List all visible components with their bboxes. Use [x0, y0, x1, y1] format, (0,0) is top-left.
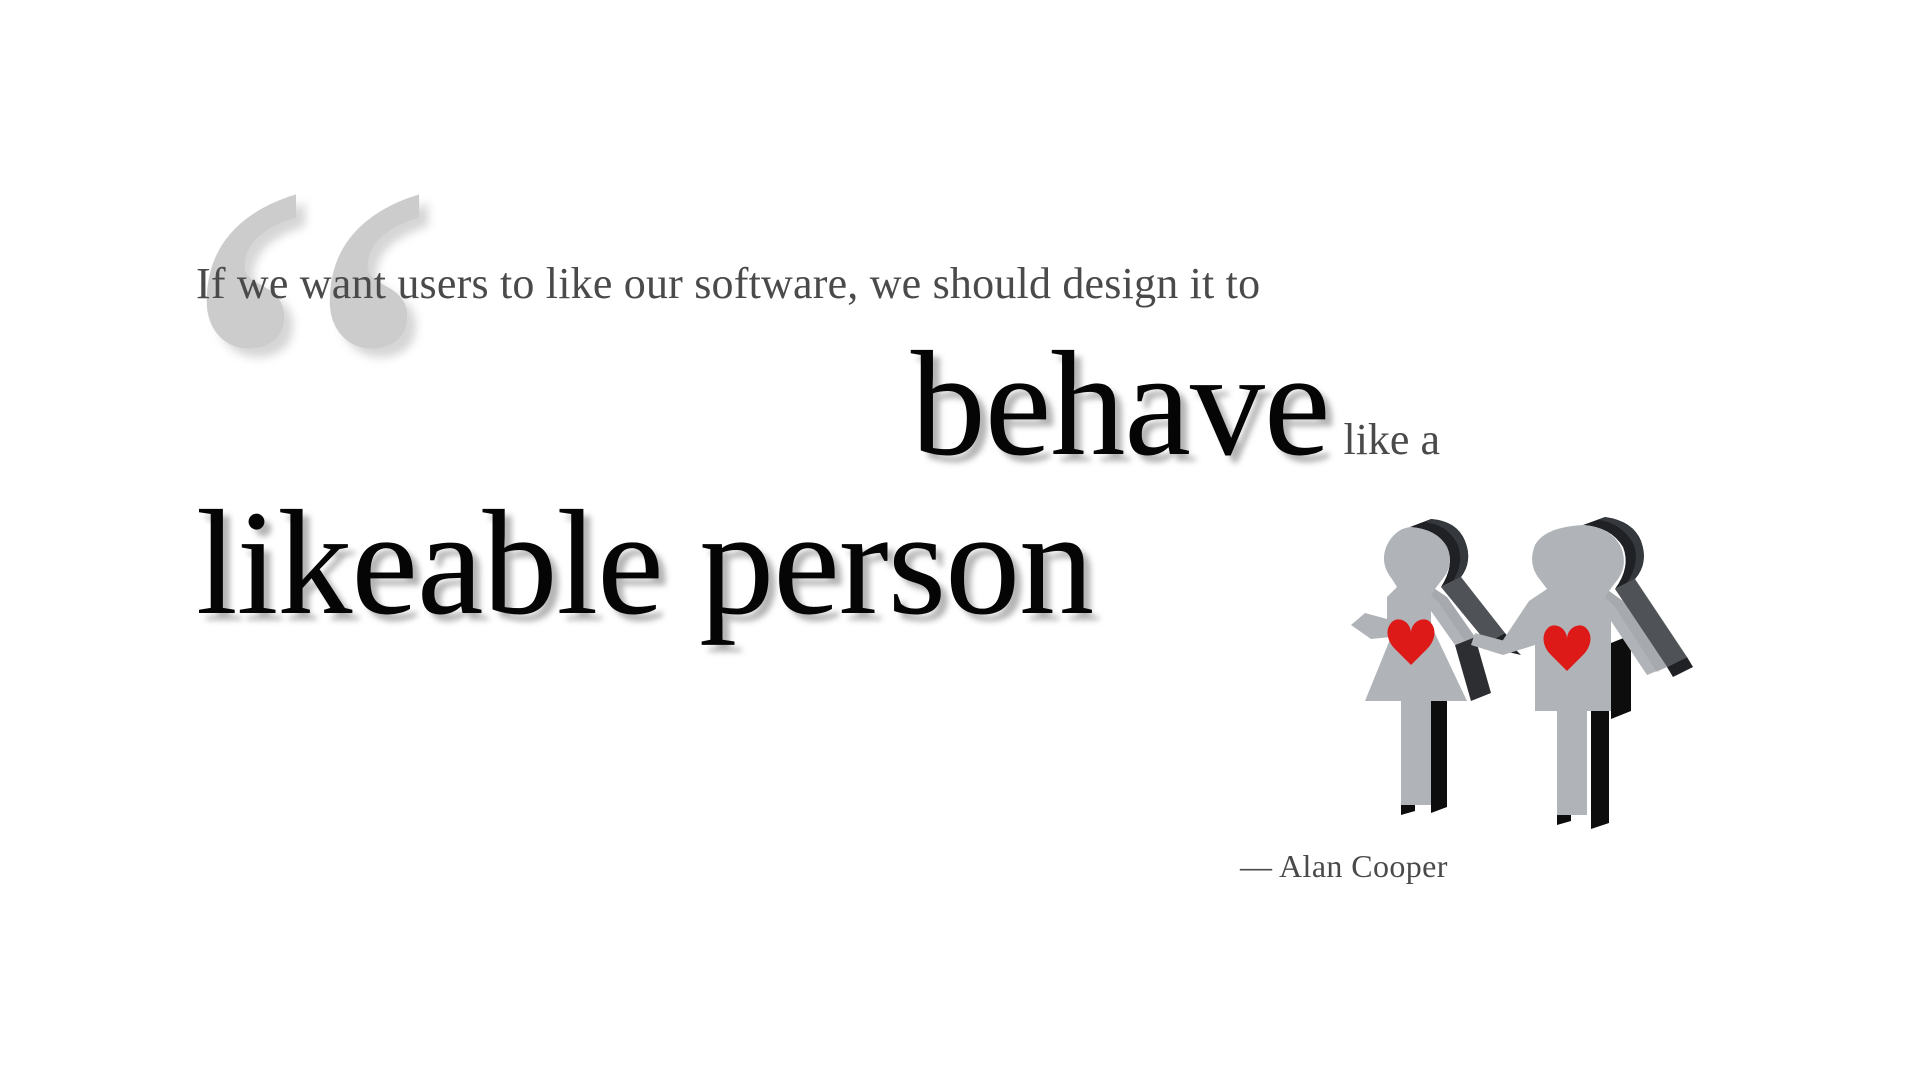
quote-attribution: — Alan Cooper	[1240, 848, 1448, 885]
male-figure	[1501, 517, 1693, 829]
quote-line-3: likeable person	[196, 477, 1093, 649]
male-torso-depth	[1611, 635, 1631, 719]
quote-emphasis-behave: behave	[911, 321, 1330, 487]
quote-slide: “ If we want users to like our software,…	[0, 0, 1920, 1080]
quote-line-2-tail: like a	[1343, 415, 1440, 464]
quote-line-1: If we want users to like our software, w…	[196, 258, 1260, 309]
female-figure	[1351, 519, 1511, 815]
female-leg-right-depth	[1431, 691, 1447, 813]
couple-hearts-svg	[1335, 515, 1715, 845]
male-leg-right-depth	[1591, 705, 1609, 829]
quote-line-2: behavelike a	[0, 318, 1440, 490]
couple-hearts-illustration	[1335, 515, 1715, 845]
male-body-silhouette	[1501, 525, 1667, 815]
